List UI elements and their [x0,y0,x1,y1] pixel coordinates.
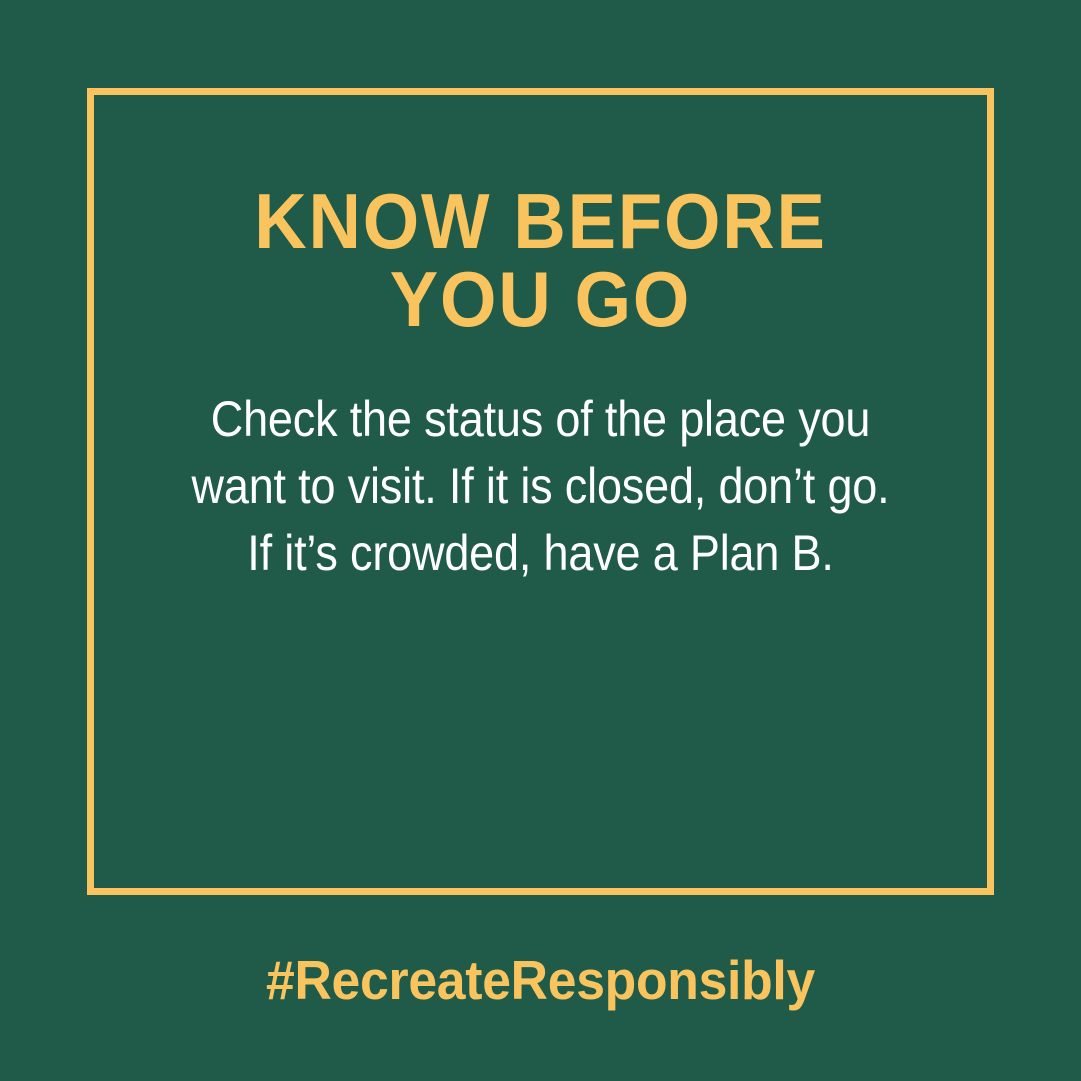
body-text: Check the status of the place you want t… [54,386,1027,587]
headline-block: KNOW BEFORE YOU GO [0,182,1081,338]
campaign-hashtag: #RecreateResponsibly [32,950,1048,1010]
page-title: KNOW BEFORE YOU GO [38,182,1043,338]
body-block: Check the status of the place you want t… [0,386,1081,587]
hashtag-block: #RecreateResponsibly [0,950,1081,1010]
poster-card: KNOW BEFORE YOU GO Check the status of t… [0,0,1081,1081]
